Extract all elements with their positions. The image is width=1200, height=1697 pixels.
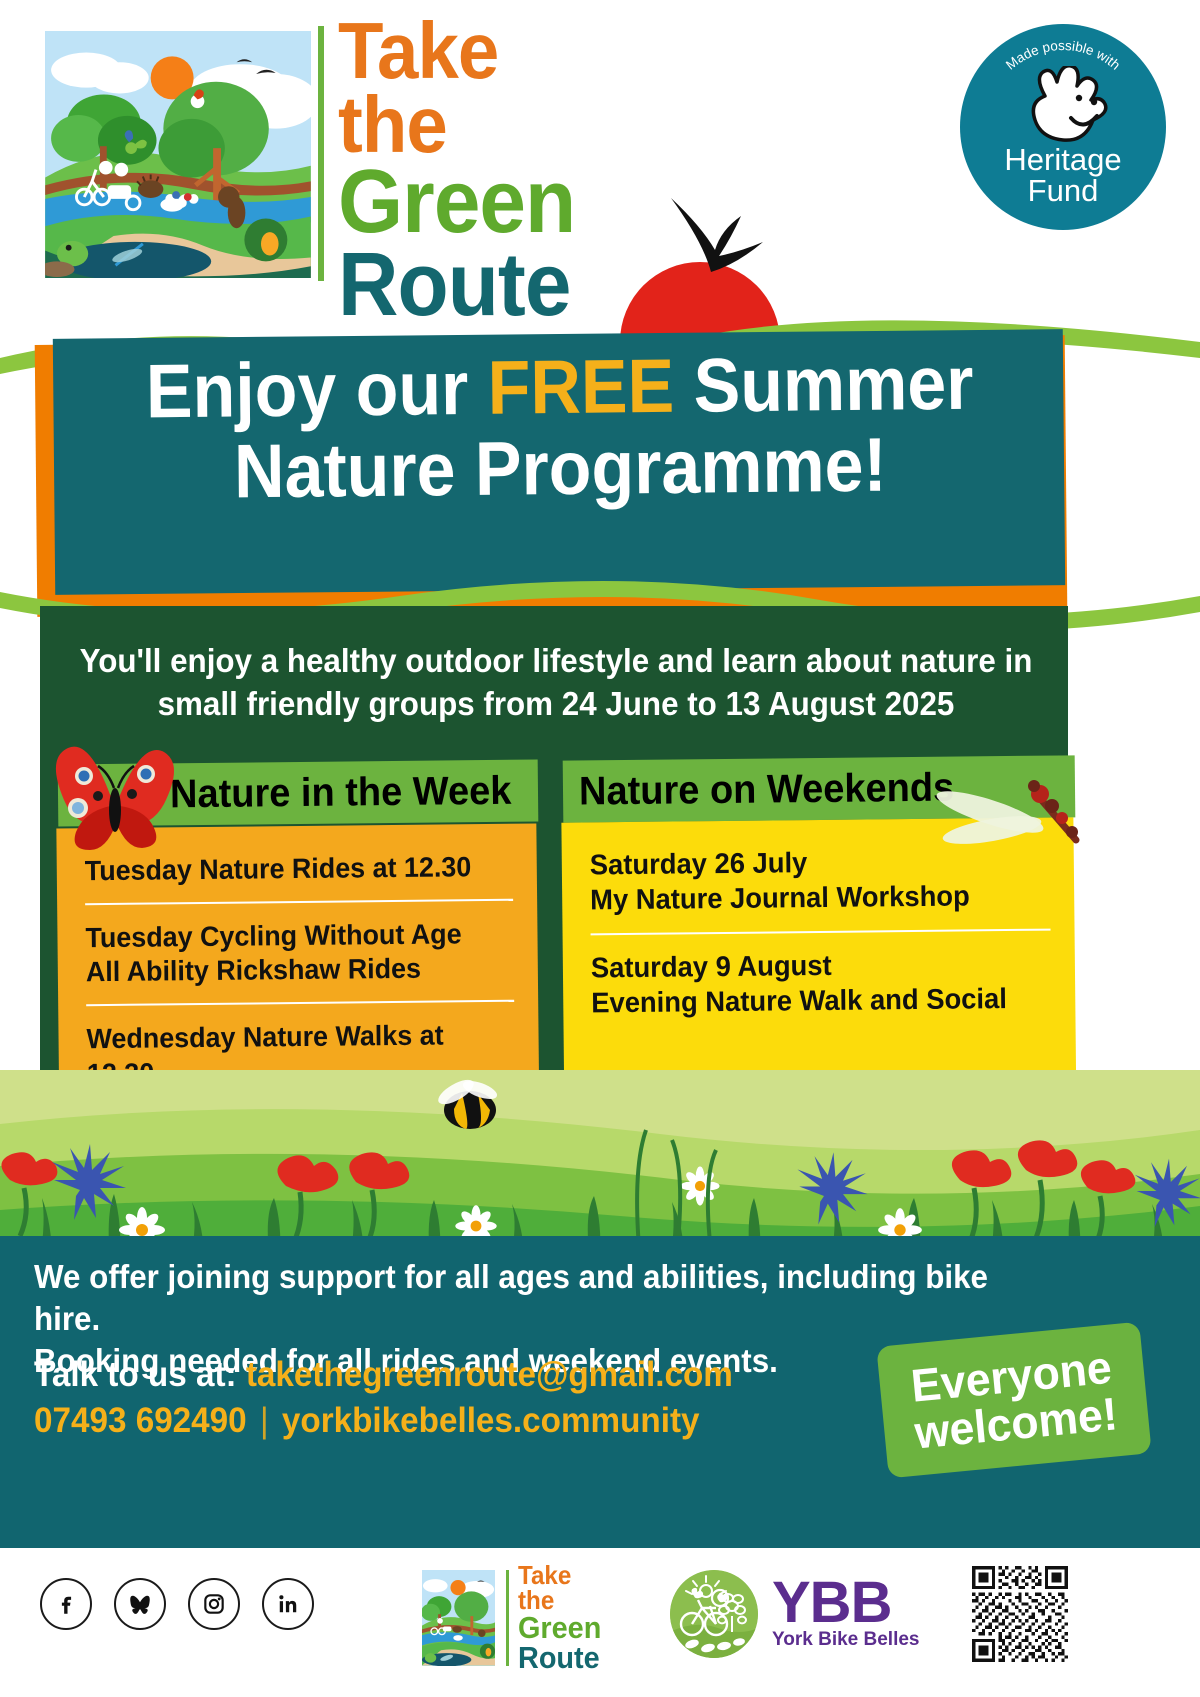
heritage-word-heritage: Heritage [960,144,1166,175]
bluesky-butterfly-icon[interactable] [114,1578,166,1630]
entry-divider [85,898,513,904]
brand-logo [42,28,314,281]
intro-text: You'll enjoy a healthy outdoor lifestyle… [73,640,1038,726]
entry-divider [86,1000,514,1006]
headline-line-2: Nature Programme! [100,424,1021,514]
ybb-wordmark: YBB York Bike Belles [772,1577,920,1650]
dragonfly-decoration-icon [930,756,1090,876]
weekend-event-2: Saturday 9 August Evening Nature Walk an… [591,946,1033,1021]
facebook-icon[interactable] [40,1578,92,1630]
york-bike-belles-logo: YBB York Bike Belles [670,1570,920,1658]
footer-green-route-logo: Take the Green Route [420,1562,620,1674]
poster-root: Take the Green Route Made possible with [0,0,1200,1697]
illustration-svg [45,31,311,278]
poster-header: Take the Green Route Made possible with [0,0,1200,320]
ybb-mark-icon [670,1570,758,1658]
crossed-fingers-hand-icon [1015,66,1111,142]
everyone-welcome-badge: Everyone welcome! [876,1322,1151,1479]
heritage-word-fund: Fund [960,175,1166,206]
headline-text: Enjoy our FREE Summer Nature Programme! [99,343,1020,514]
phone-website-line: 07493 692490|yorkbikebelles.community [34,1398,700,1444]
footer-illustration-svg [422,1570,496,1666]
ybb-bicycle-tree-icon [670,1570,758,1658]
meadow-illustration [0,1070,1200,1260]
contact-divider: | [260,1401,269,1440]
footer-logo-wordmark: Take the Green Route [518,1563,620,1672]
headline-free-word: FREE [487,344,674,431]
website-url[interactable]: yorkbikebelles.community [282,1401,700,1440]
footer-brand-route: Route [518,1643,612,1673]
meadow-svg [0,1070,1200,1260]
brand-line-route: Route [338,244,617,327]
linkedin-icon[interactable] [262,1578,314,1630]
talk-to-us-label: Talk to us at: [34,1355,246,1394]
brand-line-take: Take the [338,14,617,161]
swift-bird-icon [655,190,785,300]
ybb-initials: YBB [772,1577,920,1628]
footer-brand-take: Take the [518,1563,612,1613]
green-route-illustration [42,28,314,281]
week-event-2: Tuesday Cycling Without Age All Ability … [85,917,497,991]
headline-after: Summer [674,341,974,429]
headline-line-1: Enjoy our FREE Summer [99,343,1020,433]
email-address[interactable]: takethegreenroute@gmail.com [246,1355,733,1394]
headline-banner: Enjoy our FREE Summer Nature Programme! [0,318,1200,618]
email-contact-line: Talk to us at: takethegreenroute@gmail.c… [34,1352,733,1398]
brand-wordmark: Take the Green Route [338,14,638,327]
headline-before: Enjoy our [145,346,488,435]
footer-brand-green: Green [518,1613,612,1643]
qr-code[interactable] [972,1566,1068,1662]
heritage-fund-badge: Made possible with Heritage Fund [960,24,1166,230]
footer-logo-divider [506,1570,510,1666]
phone-number[interactable]: 07493 692490 [34,1401,247,1440]
social-links [40,1578,314,1630]
brand-line-green: Green [338,161,617,244]
footer-illustration [420,1568,497,1668]
entry-divider [591,928,1051,935]
butterfly-decoration-icon [52,738,192,856]
instagram-icon[interactable] [188,1578,240,1630]
brand-divider [318,26,324,281]
heritage-fund-name: Heritage Fund [960,144,1166,206]
ybb-full-name: York Bike Belles [772,1629,920,1651]
column-heading-weekends-label: Nature on Weekends [579,765,955,814]
column-heading-week-label: Nature in the Week [170,768,512,817]
